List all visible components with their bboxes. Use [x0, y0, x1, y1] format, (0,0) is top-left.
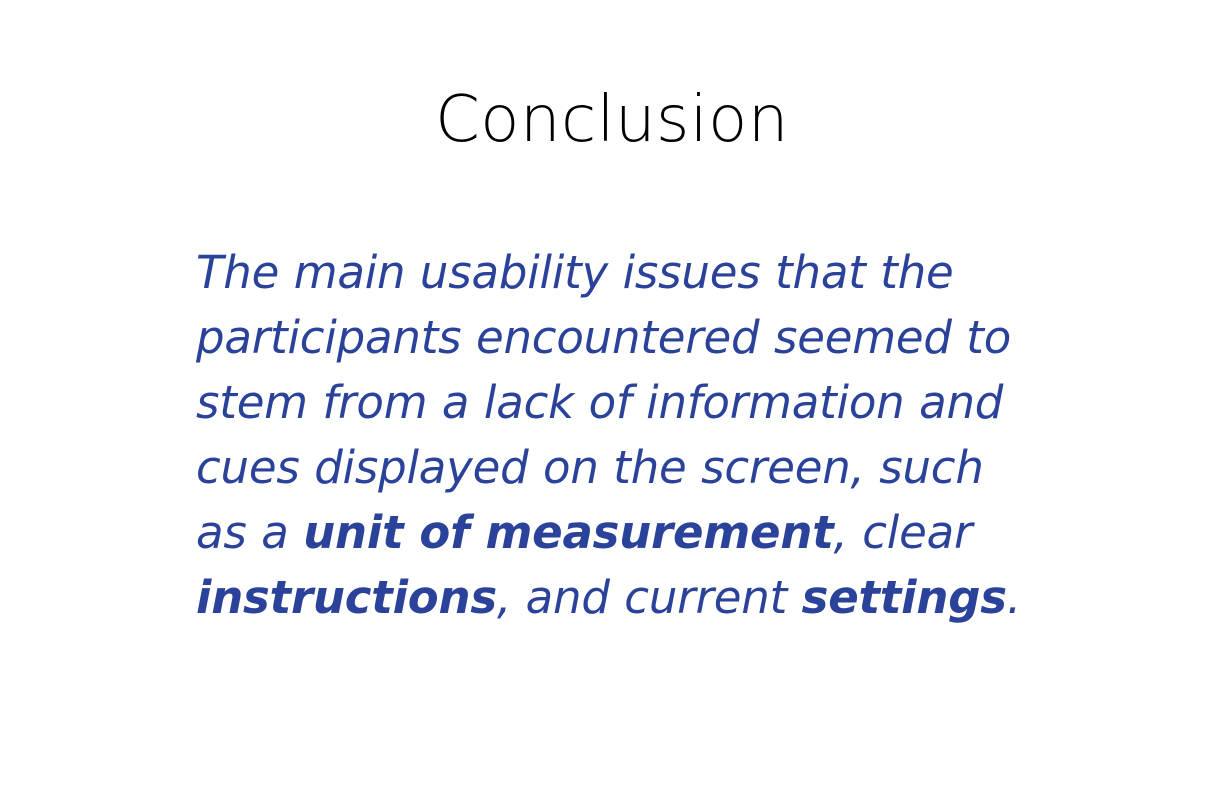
conclusion-paragraph: The main usability issues that the parti… [196, 240, 1026, 630]
emphasis-settings: settings [802, 571, 1007, 624]
emphasis-instructions: instructions [196, 571, 497, 624]
slide-canvas: Conclusion The main usability issues tha… [0, 0, 1224, 792]
paragraph-segment-3: , and current [497, 571, 802, 624]
body-text-block: The main usability issues that the parti… [196, 240, 1026, 630]
paragraph-segment-4: . [1007, 571, 1021, 624]
page-title: Conclusion [435, 86, 789, 155]
title-block: Conclusion [0, 86, 1224, 155]
paragraph-segment-2: , clear [834, 506, 973, 559]
emphasis-unit-of-measurement: unit of measurement [303, 506, 833, 559]
